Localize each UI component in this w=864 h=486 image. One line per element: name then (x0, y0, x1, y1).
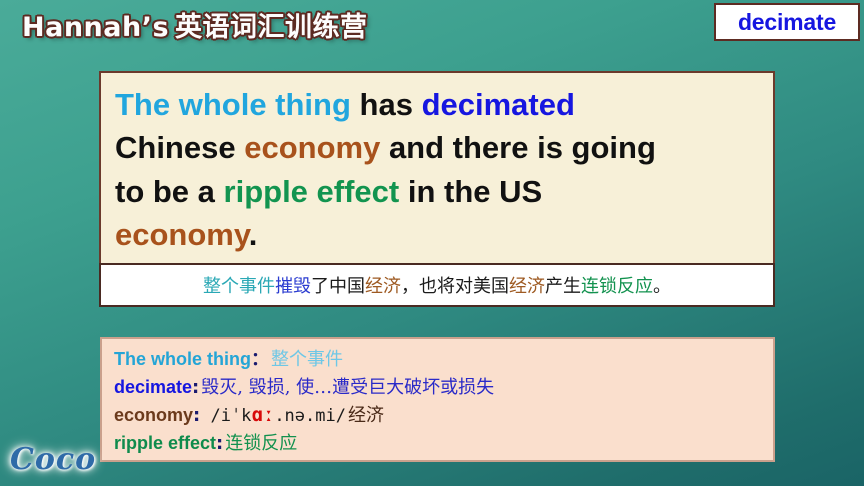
translation-run-black: 了中国 (311, 276, 365, 297)
glossary-term: ripple effect (114, 433, 216, 453)
sentence-line-2: Chinese economy and there is going (115, 126, 759, 169)
translation-run-blue: 摧毁 (275, 276, 311, 297)
glossary-phonetic-stress-vowel: ɑː (251, 404, 274, 426)
brand-title: Hannah’s英语词汇训练营 (22, 5, 368, 44)
sentence-run-green: ripple effect (224, 174, 400, 209)
sentence-run-brown: economy (244, 130, 380, 165)
translation-run-black: 产生 (545, 276, 581, 297)
headword-text: decimate (738, 9, 836, 36)
brand-title-english: Hannah’s (22, 12, 169, 43)
glossary-term: decimate (114, 377, 192, 397)
glossary-term: economy (114, 405, 193, 425)
translation-run-black: ，也将对美国 (401, 276, 509, 297)
translation-run-brown: 经济 (365, 276, 401, 297)
vocabulary-slide: Hannah’s英语词汇训练营 decimate The whole thing… (0, 0, 864, 486)
sentence-line-4: economy. (115, 213, 759, 256)
glossary-row: ripple effect:连锁反应 (114, 429, 773, 457)
watermark-coco: Coco (10, 442, 96, 477)
translation-run-cyan: 整个事件 (203, 276, 275, 297)
sentence-run-black: in the US (399, 174, 542, 209)
translation-run-black: 。 (653, 276, 671, 297)
sentence-run-cyan: The whole thing (115, 87, 351, 122)
glossary-definition: 整个事件 (271, 349, 343, 370)
translation-run-brown: 经济 (509, 276, 545, 297)
chinese-translation-strip: 整个事件摧毁了中国经济，也将对美国经济产生连锁反应。 (99, 263, 775, 307)
glossary-row: economy: /iˈkɑː.nə.mi/经济 (114, 401, 773, 429)
sentence-run-blue: decimated (422, 87, 575, 122)
example-sentence-card: The whole thing has decimated Chinese ec… (99, 71, 775, 267)
glossary-separator: ： (251, 349, 269, 370)
glossary-separator: : (216, 433, 223, 454)
sentence-line-3: to be a ripple effect in the US (115, 170, 759, 213)
glossary-definition: 连锁反应 (225, 433, 297, 454)
glossary-definition: 毁灭, 毁损, 使…遭受巨大破坏或损失 (201, 377, 494, 398)
glossary-row: The whole thing：整个事件 (114, 345, 773, 373)
headword-box: decimate (714, 3, 860, 41)
sentence-run-black: Chinese (115, 130, 244, 165)
sentence-run-black: . (249, 217, 258, 252)
sentence-run-black: has (351, 87, 422, 122)
glossary-definition: 经济 (348, 405, 384, 426)
glossary-row: decimate:毁灭, 毁损, 使…遭受巨大破坏或损失 (114, 373, 773, 401)
glossary-card: The whole thing：整个事件 decimate:毁灭, 毁损, 使…… (100, 337, 775, 462)
translation-run-green: 连锁反应 (581, 276, 653, 297)
sentence-run-black: and there is going (380, 130, 656, 165)
sentence-run-black: to be a (115, 174, 224, 209)
chinese-translation-text: 整个事件摧毁了中国经济，也将对美国经济产生连锁反应。 (203, 272, 671, 298)
glossary-separator: : (192, 377, 199, 398)
glossary-term: The whole thing (114, 349, 251, 369)
glossary-phonetic: /iˈkɑː.nə.mi/ (200, 406, 346, 426)
brand-title-chinese: 英语词汇训练营 (175, 12, 368, 43)
sentence-run-brown: economy (115, 217, 249, 252)
sentence-line-1: The whole thing has decimated (115, 83, 759, 126)
